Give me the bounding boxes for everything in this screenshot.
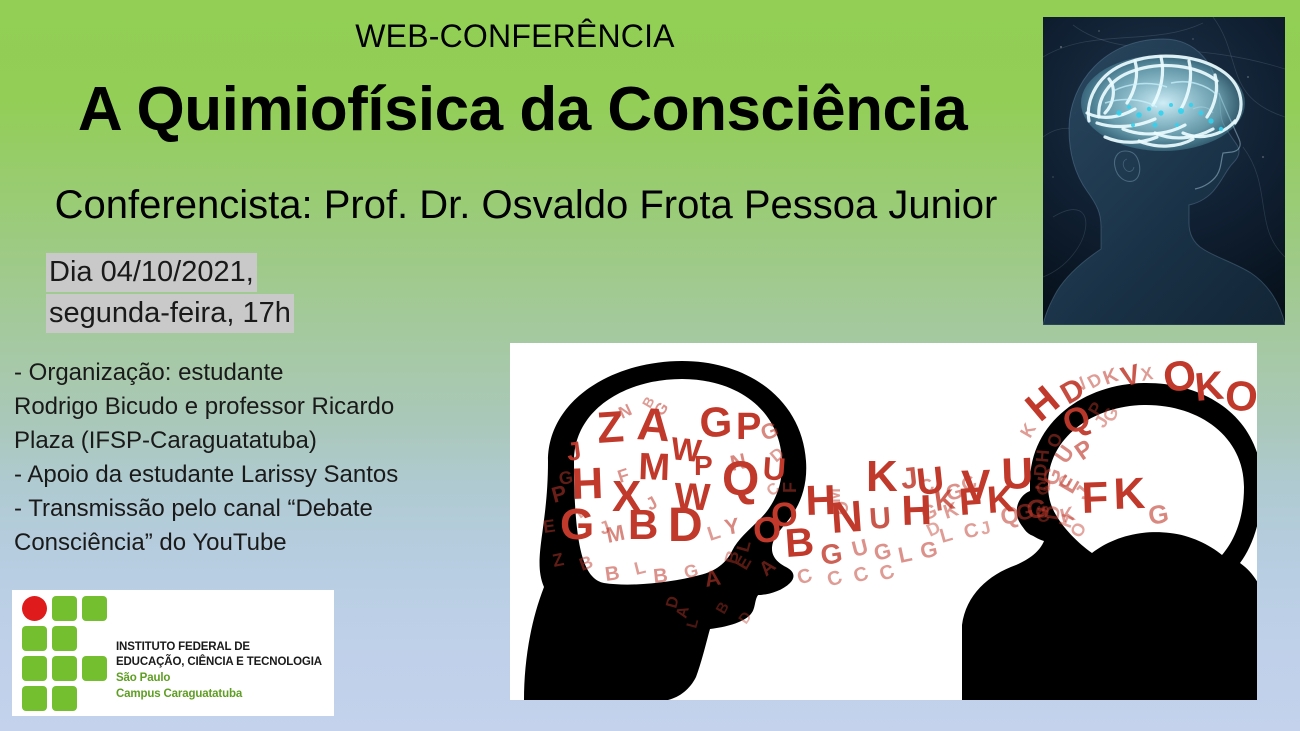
letter-glyph: O	[752, 508, 783, 551]
logo-square	[52, 626, 77, 651]
letter-glyph: L	[896, 541, 914, 568]
credits-line-3: Plaza (IFSP-Caraguatatuba)	[14, 424, 494, 458]
logo-square	[22, 656, 47, 681]
letter-glyph: K	[866, 452, 898, 501]
letter-glyph: U	[849, 534, 870, 562]
letter-glyph: H	[1032, 449, 1053, 464]
letter-glyph: G	[1032, 504, 1053, 520]
letter-glyph: G	[918, 536, 940, 564]
speaker-line: Conferencista: Prof. Dr. Osvaldo Frota P…	[26, 183, 1026, 228]
right-listener-silhouette	[962, 383, 1257, 700]
credits-line-6: Consciência” do YouTube	[14, 526, 494, 560]
event-type-kicker: WEB-CONFERÊNCIA	[0, 18, 1030, 55]
credits-block: - Organização: estudante Rodrigo Bicudo …	[14, 356, 494, 560]
logo-square	[82, 656, 107, 681]
two-people-speaking-letters-illustration: JZANBGWGPGDGFMPNUPHXJWQLEGJMBDLYZBBLBGAD…	[510, 343, 1257, 700]
credits-line-2: Rodrigo Bicudo e professor Ricardo	[14, 390, 494, 424]
letter-glyph: K	[986, 478, 1017, 522]
logo-square	[22, 626, 47, 651]
logo-square	[52, 596, 77, 621]
letter-glyph: F	[958, 480, 984, 524]
event-date-block: Dia 04/10/2021, segunda-feira, 17h	[46, 253, 294, 335]
logo-square	[82, 596, 107, 621]
event-date-line-1: Dia 04/10/2021,	[46, 253, 257, 292]
presentation-slide: WEB-CONFERÊNCIA A Quimiofísica da Consci…	[0, 0, 1300, 731]
ifsp-logo-mark	[22, 596, 108, 710]
letter-glyph: O	[1223, 371, 1257, 421]
logo-circle-red	[22, 596, 47, 621]
letter-glyph: G	[560, 500, 594, 549]
letter-glyph: M	[638, 446, 671, 489]
letter-glyph: G	[699, 398, 733, 446]
ifsp-logo-text: INSTITUTO FEDERAL DE EDUCAÇÃO, CIÊNCIA E…	[116, 640, 332, 702]
letter-glyph: K	[1113, 469, 1147, 519]
letter-glyph: K	[1016, 420, 1040, 441]
letter-glyph: C	[851, 562, 872, 587]
letter-glyph: D	[668, 499, 703, 552]
letter-glyph: U	[915, 459, 947, 504]
credits-line-1: - Organização: estudante	[14, 356, 494, 390]
letter-glyph: P	[736, 406, 761, 448]
letter-glyph: Q	[722, 453, 759, 506]
logo-institute-line-2: EDUCAÇÃO, CIÊNCIA E TECNOLOGIA	[116, 655, 332, 670]
letter-glyph: B	[784, 520, 816, 566]
page-title: A Quimiofísica da Consciência	[30, 76, 1015, 144]
credits-line-4: - Apoio da estudante Larissy Santos	[14, 458, 494, 492]
ifsp-logo: INSTITUTO FEDERAL DE EDUCAÇÃO, CIÊNCIA E…	[12, 590, 334, 716]
logo-square	[22, 686, 47, 711]
logo-state-label: São Paulo	[116, 671, 332, 686]
logo-square	[52, 656, 77, 681]
logo-institute-line-1: INSTITUTO FEDERAL DE	[116, 640, 332, 655]
head-profile-illustration	[1043, 17, 1285, 325]
letter-glyph: K	[1193, 364, 1226, 410]
letter-glyph: B	[604, 562, 621, 586]
letter-glyph: B	[628, 501, 658, 548]
letter-glyph: F	[780, 482, 800, 493]
letter-glyph: U	[868, 502, 892, 536]
logo-campus-label: Campus Caraguatatuba	[116, 687, 332, 702]
letter-glyph: C	[824, 566, 845, 592]
letter-glyph: C	[794, 564, 815, 590]
credits-line-5: - Transmissão pelo canal “Debate	[14, 492, 494, 526]
letter-glyph: G	[819, 537, 845, 571]
event-date-line-2: segunda-feira, 17h	[46, 294, 294, 333]
human-head-glowing-brain-photo	[1043, 17, 1285, 325]
letter-glyph: B	[652, 565, 669, 588]
logo-square	[52, 686, 77, 711]
letters-communication-svg: JZANBGWGPGDGFMPNUPHXJWQLEGJMBDLYZBBLBGAD…	[510, 343, 1257, 700]
letter-glyph: X	[1139, 363, 1154, 385]
letter-glyph: C	[877, 560, 898, 585]
